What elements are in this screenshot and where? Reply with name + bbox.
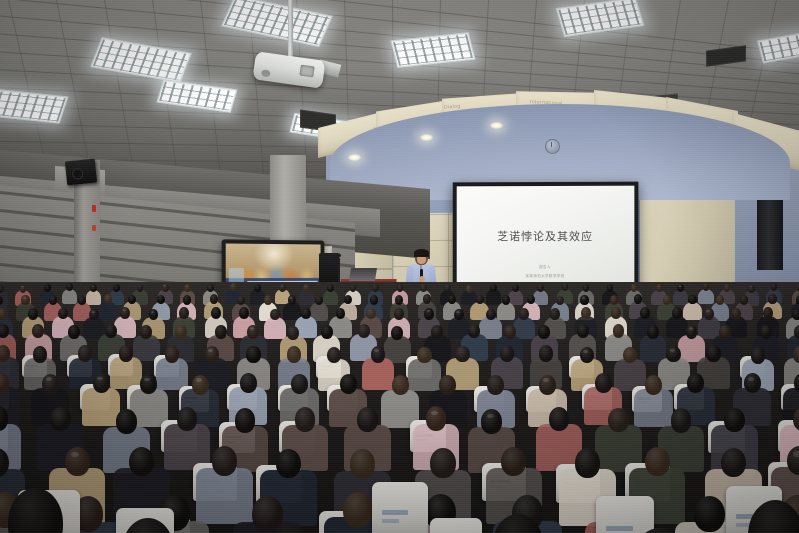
audience-member-head xyxy=(706,345,720,362)
audience-member-head xyxy=(254,284,261,292)
slide-subtitle-presenter: 报告人 xyxy=(457,265,635,270)
projection-screen: 芝诺悖论及其效应 报告人 某某师范大学数学学院 xyxy=(457,186,635,297)
audience-member-head xyxy=(395,295,403,305)
hair-highlight xyxy=(583,350,588,353)
audience-member-head xyxy=(295,407,316,431)
audience-member-head xyxy=(417,347,431,364)
audience-member-torso xyxy=(634,389,672,427)
audience-member-head xyxy=(357,407,378,431)
audience-member-head xyxy=(237,296,245,306)
audience-member-head xyxy=(276,449,301,479)
indicator-light xyxy=(92,225,96,231)
audience-member-head xyxy=(370,295,378,305)
hair-highlight xyxy=(196,378,202,382)
audience-member-torso xyxy=(99,301,117,319)
hair-highlight xyxy=(543,378,549,382)
audience-member-head xyxy=(768,294,776,304)
microphone-stand xyxy=(338,258,340,284)
hair-highlight xyxy=(582,297,585,299)
audience-member-head xyxy=(240,373,257,393)
audience-member-head xyxy=(550,308,560,320)
audience-member-head xyxy=(426,406,447,430)
audience-member-head xyxy=(663,295,671,305)
audience-member-head xyxy=(350,449,375,479)
audience-member-head xyxy=(327,347,341,364)
audience-member-head xyxy=(623,347,637,364)
audience-member-head xyxy=(581,307,591,319)
audience-member-head xyxy=(490,284,497,292)
audience-member-head xyxy=(28,308,38,320)
audience-member-head xyxy=(671,408,692,432)
audience-member-head xyxy=(731,308,741,320)
indicator-light xyxy=(92,205,96,212)
audience-member-head xyxy=(455,346,469,363)
audience-member-torso xyxy=(513,317,535,339)
audience-member-head xyxy=(611,307,621,319)
audience-member-head xyxy=(608,408,629,432)
audience-member-head xyxy=(65,447,90,477)
audience-member-torso xyxy=(486,289,501,304)
hair-highlight xyxy=(487,414,494,418)
audience-member-head xyxy=(177,407,198,431)
audience-member-head xyxy=(721,448,746,478)
audience-member-head xyxy=(595,373,612,393)
audience-member-torso xyxy=(86,290,101,305)
audience-member-head xyxy=(235,408,256,432)
audience-member-head xyxy=(175,325,187,339)
audience-member-head xyxy=(444,284,451,292)
hair-highlight xyxy=(46,377,52,381)
audience-member-head xyxy=(0,308,7,320)
audience-member-head xyxy=(430,448,455,478)
audience-member-torso xyxy=(196,468,253,524)
audience-member-head xyxy=(140,325,152,339)
audience-member-head xyxy=(246,346,260,363)
downlight xyxy=(348,154,361,161)
downlight xyxy=(490,122,503,129)
audience-member-head xyxy=(212,446,237,476)
audience-member-head xyxy=(392,375,409,395)
audience-member-head xyxy=(549,407,570,431)
audience-member-head xyxy=(656,284,663,292)
audience-member-head xyxy=(724,408,745,432)
audience-member-head xyxy=(716,295,724,305)
audience-member-torso xyxy=(698,289,713,304)
audience-member-torso xyxy=(62,289,77,304)
audience-member-head xyxy=(140,374,157,394)
audience-member-torso xyxy=(264,317,286,339)
audience-member-head xyxy=(165,346,179,363)
audience-member-head xyxy=(78,296,86,306)
audience-member-head xyxy=(321,325,333,339)
audience-member-head xyxy=(343,492,374,528)
audience-member-head xyxy=(252,496,283,532)
audience-member-head xyxy=(128,295,136,305)
audience-member-head xyxy=(423,294,431,304)
audience-member-head xyxy=(58,308,68,320)
audience-member-head xyxy=(577,324,589,338)
slide-subtitle-affiliation: 某某师范大学数学学院 xyxy=(457,274,635,279)
audience-member-head xyxy=(344,295,352,305)
hair-highlight xyxy=(456,311,459,313)
audience-member-head xyxy=(763,307,773,319)
audience-member-head xyxy=(183,295,191,305)
audience-member-head xyxy=(239,307,249,319)
audience-member-head xyxy=(694,496,725,532)
audience-member-head xyxy=(78,345,92,362)
auditorium-chair xyxy=(430,518,482,533)
audience-member-head xyxy=(760,325,772,339)
audience-member-head xyxy=(350,284,357,292)
audience-member-torso xyxy=(408,359,440,391)
audience-member-head xyxy=(66,283,73,291)
audience-member-head xyxy=(397,284,404,292)
audience-member-head xyxy=(794,325,799,339)
audience-member-head xyxy=(792,309,799,321)
audience-member-head xyxy=(44,284,51,292)
laptop xyxy=(349,268,377,281)
audience-member-head xyxy=(504,325,516,339)
audience-member-head xyxy=(688,295,696,305)
wall-speaker xyxy=(65,158,97,185)
audience-member-head xyxy=(687,373,704,393)
audience-member-head xyxy=(129,447,154,477)
hair-highlight xyxy=(92,311,95,313)
audience-member-head xyxy=(666,346,680,363)
audience-member-head xyxy=(719,325,731,339)
hair-highlight xyxy=(748,377,754,381)
audience-member-head xyxy=(431,325,443,339)
audience-member-head xyxy=(539,345,553,362)
audience-member-head xyxy=(137,284,144,292)
audience-member-head xyxy=(315,296,323,306)
audience-member-head xyxy=(49,295,57,305)
auditorium-chair xyxy=(596,496,654,533)
audience-member-head xyxy=(391,326,403,340)
audience-member-torso xyxy=(323,290,338,305)
slide-title: 芝诺悖论及其效应 xyxy=(457,228,635,244)
audience-member-head xyxy=(119,345,133,362)
audience-member-head xyxy=(476,295,484,305)
audience-member-head xyxy=(672,307,682,319)
audience-member-head xyxy=(501,447,526,477)
audience xyxy=(0,282,799,533)
audience-member-head xyxy=(634,294,642,304)
audience-member-head xyxy=(215,325,227,339)
audience-member-head xyxy=(740,295,748,305)
audience-member-head xyxy=(645,375,662,395)
audience-member-head xyxy=(640,307,650,319)
audience-member-head xyxy=(466,285,473,293)
auditorium-chair xyxy=(372,482,428,533)
audience-member-head xyxy=(486,309,496,321)
audience-member-head xyxy=(210,294,218,304)
hair-highlight xyxy=(689,327,693,330)
audience-member-torso xyxy=(82,388,120,426)
downlight xyxy=(420,134,433,141)
hair-highlight xyxy=(670,349,675,352)
audience-member-head xyxy=(420,284,427,292)
arch-emblem xyxy=(545,139,560,154)
audience-member-head xyxy=(645,447,670,477)
audience-member-head xyxy=(751,347,765,364)
audience-member-torso xyxy=(673,290,688,305)
audience-member-head xyxy=(104,294,112,304)
audience-member-torso xyxy=(497,302,515,320)
audience-member-head xyxy=(358,324,370,338)
audience-member-head xyxy=(793,346,799,363)
audience-member-torso xyxy=(362,358,394,390)
audience-member-head xyxy=(647,325,659,339)
audience-member-head xyxy=(0,285,4,293)
audience-member-head xyxy=(631,284,638,292)
audience-member-head xyxy=(724,284,731,292)
audience-member-torso xyxy=(640,335,667,362)
audience-member-head xyxy=(575,448,600,478)
audience-member-head xyxy=(394,308,404,320)
audience-member-head xyxy=(211,307,221,319)
audience-member-head xyxy=(327,284,334,292)
audience-member-head xyxy=(287,326,299,340)
hair-highlight xyxy=(793,451,799,456)
audience-member-head xyxy=(287,346,301,363)
audience-member-head xyxy=(340,374,357,394)
projector-mount-pole xyxy=(288,0,293,58)
audience-member-head xyxy=(291,374,308,394)
audience-member-head xyxy=(500,345,514,362)
audience-member-torso xyxy=(683,302,701,320)
audience-member-head xyxy=(50,407,71,431)
audience-member-head xyxy=(519,308,529,320)
audience-member-head xyxy=(179,307,189,319)
audience-member-head xyxy=(580,347,594,364)
audience-member-head xyxy=(116,409,137,433)
audience-member-head xyxy=(610,295,618,305)
audience-member-head xyxy=(502,295,510,305)
audience-member-head xyxy=(481,409,502,433)
hair-highlight xyxy=(23,297,26,299)
lecture-hall-photo: Dialog International Thinking Internatio… xyxy=(0,0,799,533)
audience-member-head xyxy=(613,324,625,338)
audience-member-head xyxy=(270,309,280,321)
presenter-hair xyxy=(414,249,429,257)
audience-member-head xyxy=(33,346,47,363)
audience-member-torso xyxy=(299,290,314,305)
audience-member-head xyxy=(68,325,80,339)
audience-member-head xyxy=(448,295,456,305)
